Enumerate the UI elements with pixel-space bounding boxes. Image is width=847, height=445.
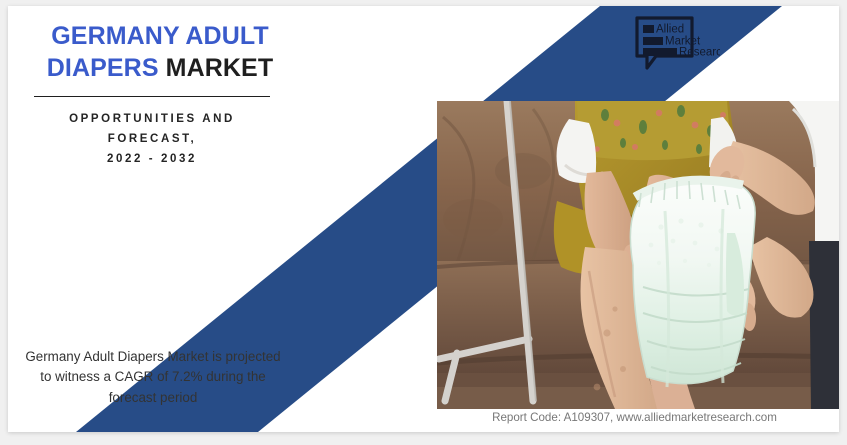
subtitle-line-3: 2022 - 2032 <box>26 149 278 169</box>
page-title-plain: MARKET <box>159 54 274 82</box>
report-banner-card: GERMANY ADULT DIAPERS MARKET OPPORTUNITI… <box>8 6 839 432</box>
allied-market-research-logo: Allied Market Research <box>634 16 720 72</box>
report-code-text: Report Code: A109307, www.alliedmarketre… <box>437 411 832 424</box>
report-subtitle: OPPORTUNITIES AND FORECAST, 2022 - 2032 <box>26 109 278 169</box>
logo-text-research: Research <box>679 47 720 59</box>
logo-mark-icon: Allied Market Research <box>634 16 720 72</box>
hero-photo <box>437 101 839 409</box>
logo-text-allied: Allied <box>656 24 684 36</box>
market-tagline: Germany Adult Diapers Market is projecte… <box>24 347 282 408</box>
title-divider <box>34 96 270 97</box>
subtitle-line-1: OPPORTUNITIES AND <box>26 109 278 129</box>
hero-photo-illustration <box>437 101 839 409</box>
left-text-column: GERMANY ADULT DIAPERS MARKET OPPORTUNITI… <box>8 6 438 432</box>
page-title: GERMANY ADULT DIAPERS MARKET <box>26 20 294 84</box>
subtitle-line-2: FORECAST, <box>26 129 278 149</box>
